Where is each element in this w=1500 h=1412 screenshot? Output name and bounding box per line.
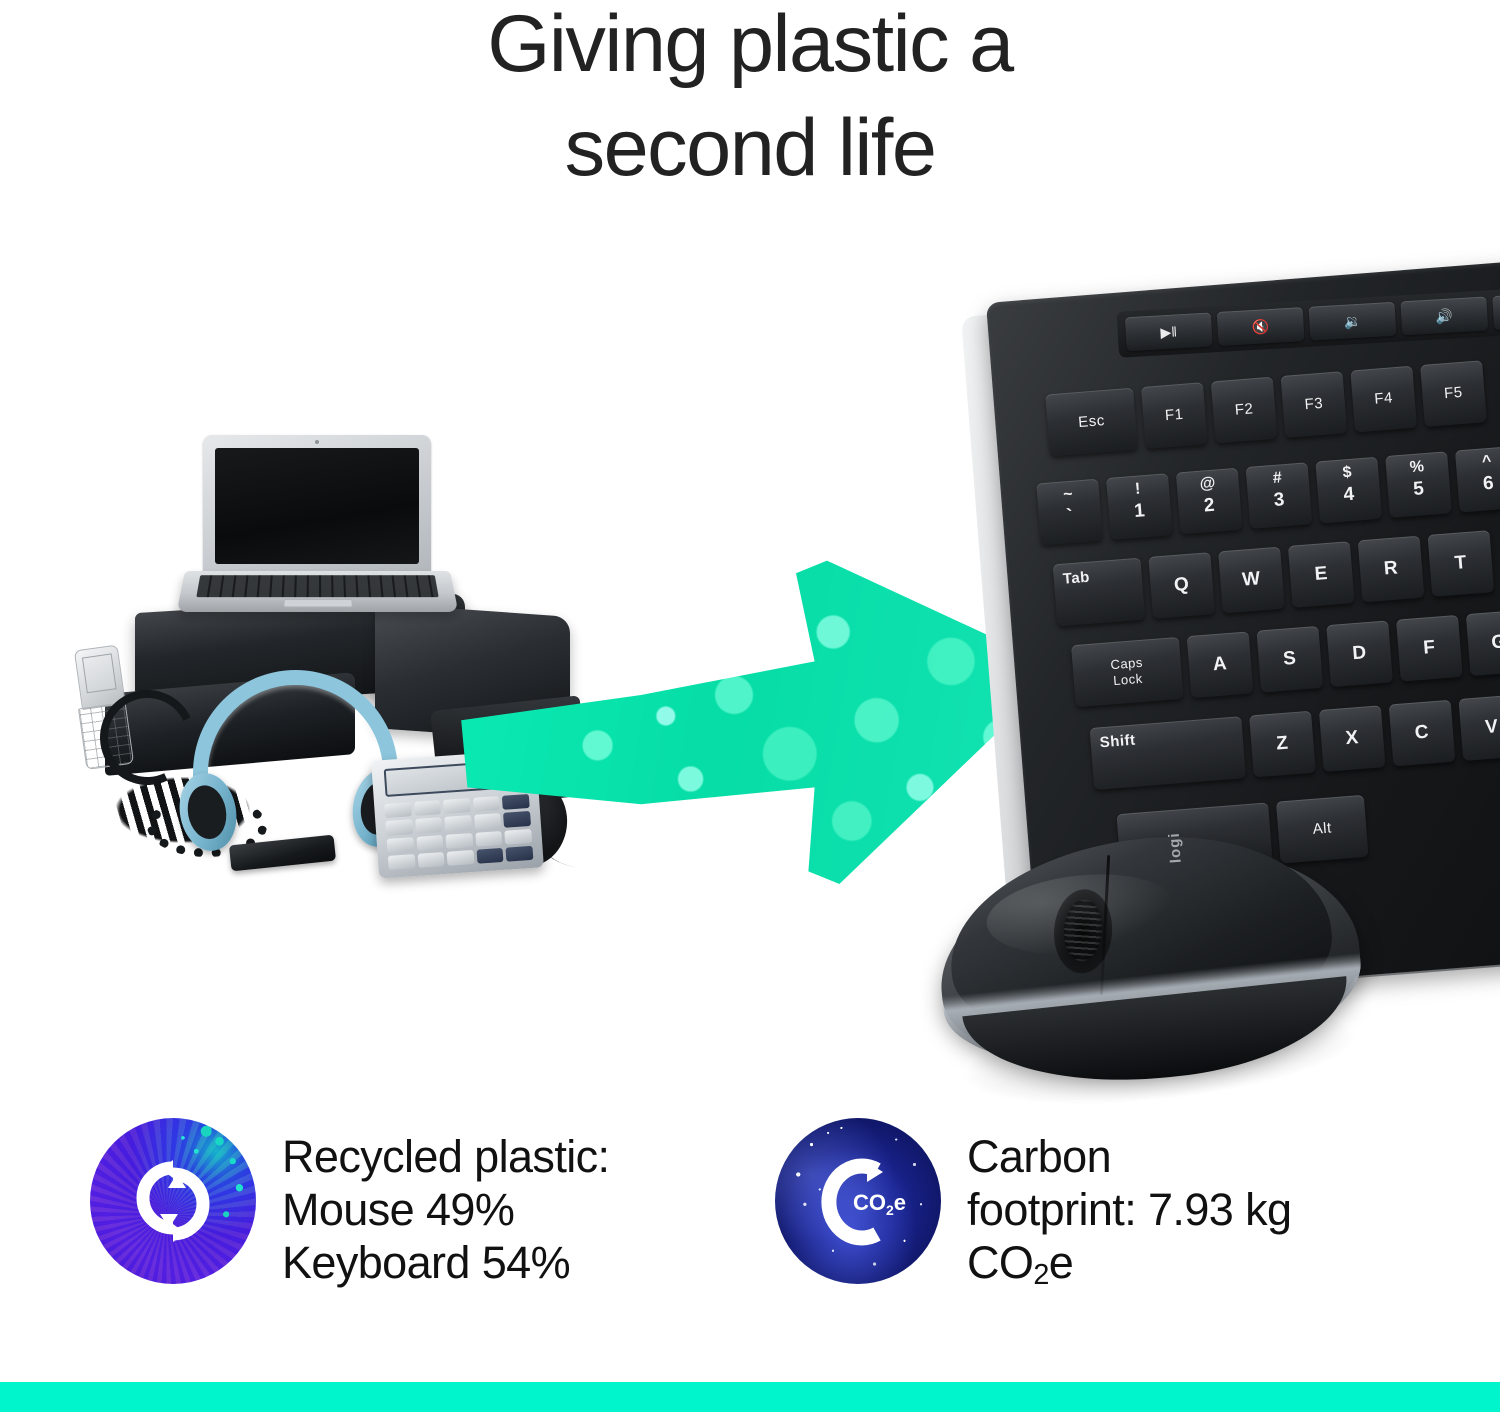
bottom-accent-bar xyxy=(0,1382,1500,1412)
key-w[interactable]: W xyxy=(1218,547,1285,614)
recycled-plastic-badge-circle xyxy=(90,1118,256,1284)
headline-line-2: second life xyxy=(0,96,1500,200)
key-f1[interactable]: F1 xyxy=(1141,382,1208,449)
laptop-screen xyxy=(215,448,419,564)
old-laptop xyxy=(185,435,450,635)
key-shift[interactable]: Shift xyxy=(1090,716,1246,790)
key-t[interactable]: T xyxy=(1427,530,1494,597)
key-3[interactable]: #3 xyxy=(1246,462,1313,529)
key-6[interactable]: ^6 xyxy=(1455,446,1500,513)
badge-carbon-footprint: CO2e Carbon footprint: 7.93 kg CO2e xyxy=(775,1118,1291,1296)
home-icon[interactable]: ⌂ xyxy=(1492,291,1500,330)
key-f[interactable]: F xyxy=(1396,615,1463,682)
logitech-logo: logi xyxy=(1166,832,1185,864)
key-f5[interactable]: F5 xyxy=(1420,360,1487,427)
key-f4[interactable]: F4 xyxy=(1350,366,1417,433)
key-4[interactable]: $4 xyxy=(1315,457,1382,524)
page-title: Giving plastic a second life xyxy=(0,0,1500,200)
volume-up-icon[interactable]: 🔊 xyxy=(1400,297,1488,336)
key-1[interactable]: !1 xyxy=(1106,473,1173,540)
key-backtick[interactable]: ~` xyxy=(1036,479,1103,546)
play-pause-icon[interactable]: ▶‖ xyxy=(1125,312,1213,351)
carbon-footprint-label: Carbon footprint: 7.93 kg CO2e xyxy=(967,1118,1291,1296)
mute-icon[interactable]: 🔇 xyxy=(1217,307,1305,346)
carbon-c-icon: CO2e xyxy=(805,1144,913,1258)
key-f2[interactable]: F2 xyxy=(1211,377,1278,444)
calc-key xyxy=(416,835,444,851)
laptop-keyboard xyxy=(196,575,438,597)
logitech-mouse: logi xyxy=(926,798,1384,1131)
key-caps-lock[interactable]: CapsLock xyxy=(1071,637,1184,707)
carbon-footprint-badge-circle: CO2e xyxy=(775,1118,941,1284)
laptop-trackpad xyxy=(283,599,353,607)
carbon-text-part2: e xyxy=(1049,1237,1073,1288)
calc-key xyxy=(388,854,416,870)
key-f3[interactable]: F3 xyxy=(1281,371,1348,438)
laptop-base xyxy=(177,571,459,612)
recycled-plastic-label: Recycled plastic: Mouse 49% Keyboard 54% xyxy=(282,1118,609,1289)
key-q[interactable]: Q xyxy=(1148,552,1215,619)
key-g[interactable]: G xyxy=(1466,609,1500,676)
key-s[interactable]: S xyxy=(1256,626,1323,693)
laptop-lid xyxy=(203,435,431,575)
headphone-earpad-left xyxy=(184,782,231,842)
old-headphones xyxy=(193,670,398,845)
key-v[interactable]: V xyxy=(1458,694,1500,761)
calc-key xyxy=(414,800,442,816)
key-c[interactable]: C xyxy=(1389,700,1456,767)
key-a[interactable]: A xyxy=(1187,631,1254,698)
carbon-badge-co2e-label: CO2e xyxy=(853,1190,906,1218)
key-z[interactable]: Z xyxy=(1249,711,1316,778)
flip-phone-display xyxy=(82,653,117,693)
key-5[interactable]: %5 xyxy=(1385,451,1452,518)
key-r[interactable]: R xyxy=(1358,536,1425,603)
key-tab[interactable]: Tab xyxy=(1053,558,1146,627)
carbon-text-part1: Carbon footprint: 7.93 kg CO xyxy=(967,1131,1291,1288)
calc-key xyxy=(387,837,415,853)
product-illustration: ▶‖ 🔇 🔉 🔊 ⌂ Esc F1 F2 F3 F4 F5 ~` !1 @2 #… xyxy=(0,250,1500,1100)
calc-key xyxy=(384,802,412,818)
calc-key xyxy=(385,819,413,835)
key-x[interactable]: X xyxy=(1319,705,1386,772)
badge-recycled-plastic: Recycled plastic: Mouse 49% Keyboard 54% xyxy=(90,1118,609,1289)
key-esc[interactable]: Esc xyxy=(1045,388,1138,457)
key-d[interactable]: D xyxy=(1326,620,1393,687)
headline-line-1: Giving plastic a xyxy=(0,0,1500,96)
key-e[interactable]: E xyxy=(1288,541,1355,608)
volume-down-icon[interactable]: 🔉 xyxy=(1309,302,1397,341)
key-2[interactable]: @2 xyxy=(1176,468,1243,535)
sustainability-badges: Recycled plastic: Mouse 49% Keyboard 54%… xyxy=(0,1118,1500,1318)
calc-key xyxy=(415,817,443,833)
recycle-arrows-icon xyxy=(116,1148,230,1254)
calc-key xyxy=(417,852,445,868)
carbon-text-subscript: 2 xyxy=(1033,1259,1048,1291)
laptop-webcam xyxy=(315,440,319,444)
